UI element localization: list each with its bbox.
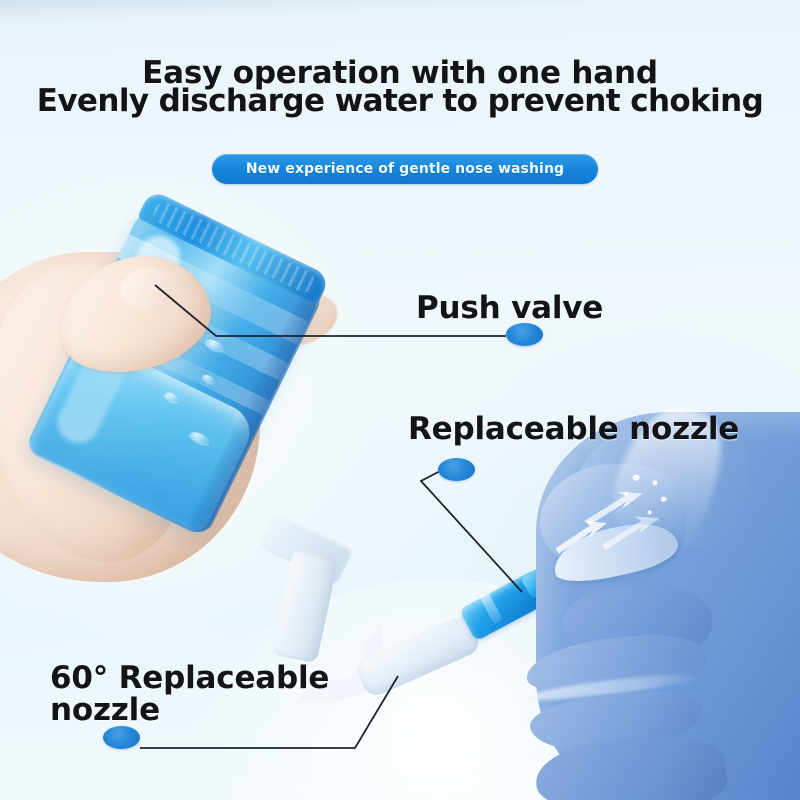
tagline-badge: New experience of gentle nose washing [212,154,598,184]
headline-line-2: Evenly discharge water to prevent chokin… [0,83,800,119]
tagline-badge-text: New experience of gentle nose washing [246,161,564,177]
callout-label-replaceable-nozzle: Replaceable nozzle [408,411,739,447]
callout-dot-sixty-degree-nozzle [103,726,140,749]
nose-profile-illustration [500,412,800,800]
product-infographic: Easy operation with one hand Evenly disc… [0,0,800,800]
callout-label-push-valve: Push valve [416,290,603,326]
callout-label-line-2: nozzle [50,692,160,728]
callout-label-line-1: 60° Replaceable [50,660,329,696]
callout-label-sixty-degree-nozzle: 60° Replaceable nozzle [50,663,380,726]
callout-dot-replaceable-nozzle [438,458,475,481]
callout-dot-push-valve [506,323,543,346]
